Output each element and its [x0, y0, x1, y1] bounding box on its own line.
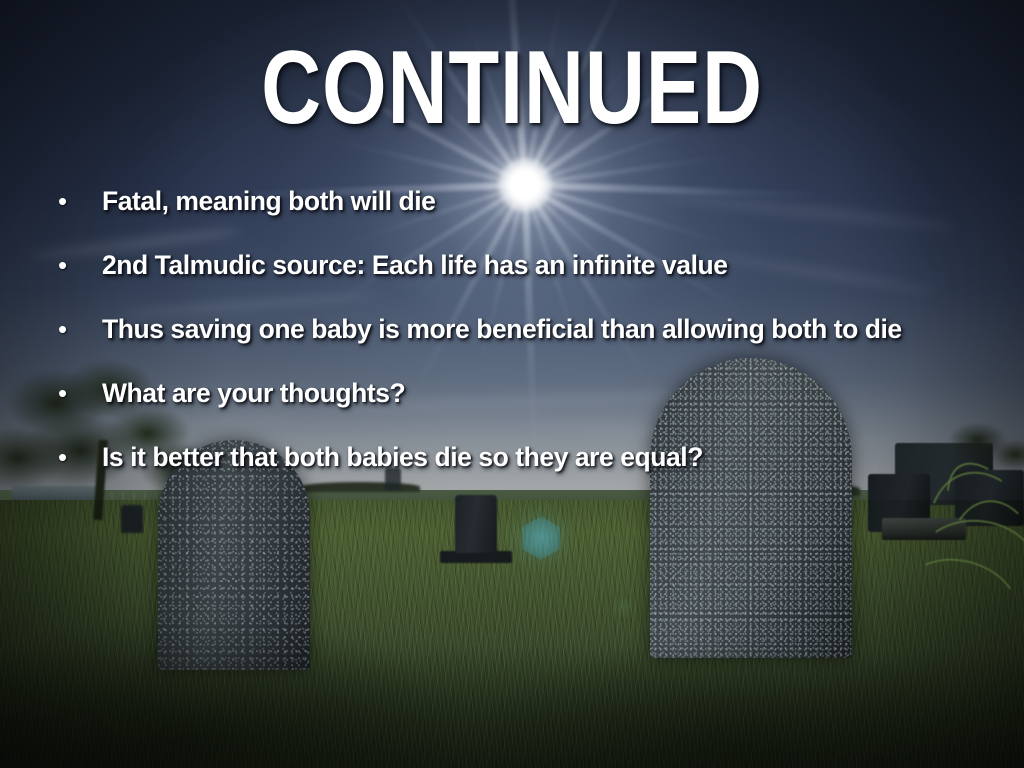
list-item: •What are your thoughts?: [58, 380, 1018, 444]
list-item: •Fatal, meaning both will die: [58, 188, 1018, 252]
bullet-list: •Fatal, meaning both will die•2nd Talmud…: [58, 188, 1018, 508]
list-item: •Thus saving one baby is more beneficial…: [58, 316, 1018, 380]
bullet-dot-icon: •: [58, 316, 102, 342]
bullet-text: Thus saving one baby is more beneficial …: [102, 316, 1018, 343]
bullet-text: 2nd Talmudic source: Each life has an in…: [102, 252, 1018, 279]
list-item: •2nd Talmudic source: Each life has an i…: [58, 252, 1018, 316]
bullet-dot-icon: •: [58, 252, 102, 278]
bullet-dot-icon: •: [58, 380, 102, 406]
bullet-dot-icon: •: [58, 188, 102, 214]
page-title: CONTINUED: [102, 36, 921, 140]
bullet-text: What are your thoughts?: [102, 380, 1018, 407]
presentation-slide: CONTINUED •Fatal, meaning both will die•…: [0, 0, 1024, 768]
bullet-text: Fatal, meaning both will die: [102, 188, 1018, 215]
slide-content: CONTINUED •Fatal, meaning both will die•…: [0, 0, 1024, 768]
bullet-text: Is it better that both babies die so the…: [102, 444, 1018, 471]
bullet-dot-icon: •: [58, 444, 102, 470]
list-item: •Is it better that both babies die so th…: [58, 444, 1018, 508]
